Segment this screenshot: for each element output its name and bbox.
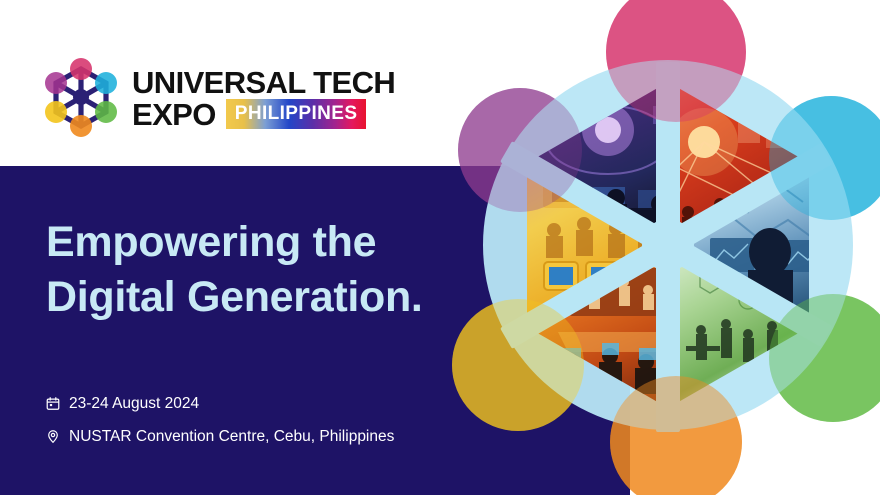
location-pin-icon: [46, 429, 60, 444]
page-title: Empowering the Digital Generation.: [46, 215, 423, 325]
accent-circle-lower-left-overlay: [452, 299, 584, 431]
philippines-badge: PHILIPPINES: [226, 99, 367, 129]
event-details: 23-24 August 2024 NUSTAR Convention Cent…: [46, 396, 394, 444]
hexagon-wheel-logo-icon: [44, 55, 118, 141]
event-location-row: NUSTAR Convention Centre, Cebu, Philippi…: [46, 429, 394, 445]
accent-circle-upper-left-overlay: [458, 88, 582, 212]
event-promo-banner: UNIVERSAL TECH EXPO PHILIPPINES Empoweri…: [0, 0, 880, 495]
brand-name-line1: UNIVERSAL TECH: [132, 67, 395, 98]
brand-wordmark: UNIVERSAL TECH EXPO PHILIPPINES: [132, 67, 395, 130]
brand-name-line2: EXPO: [132, 99, 216, 130]
event-date-row: 23-24 August 2024: [46, 396, 394, 412]
hexagon-wheel-photo-collage: [448, 0, 880, 495]
brand-logo[interactable]: UNIVERSAL TECH EXPO PHILIPPINES: [44, 55, 395, 141]
event-location-text: NUSTAR Convention Centre, Cebu, Philippi…: [69, 429, 394, 445]
event-date-text: 23-24 August 2024: [69, 396, 199, 412]
calendar-icon: [46, 396, 60, 411]
